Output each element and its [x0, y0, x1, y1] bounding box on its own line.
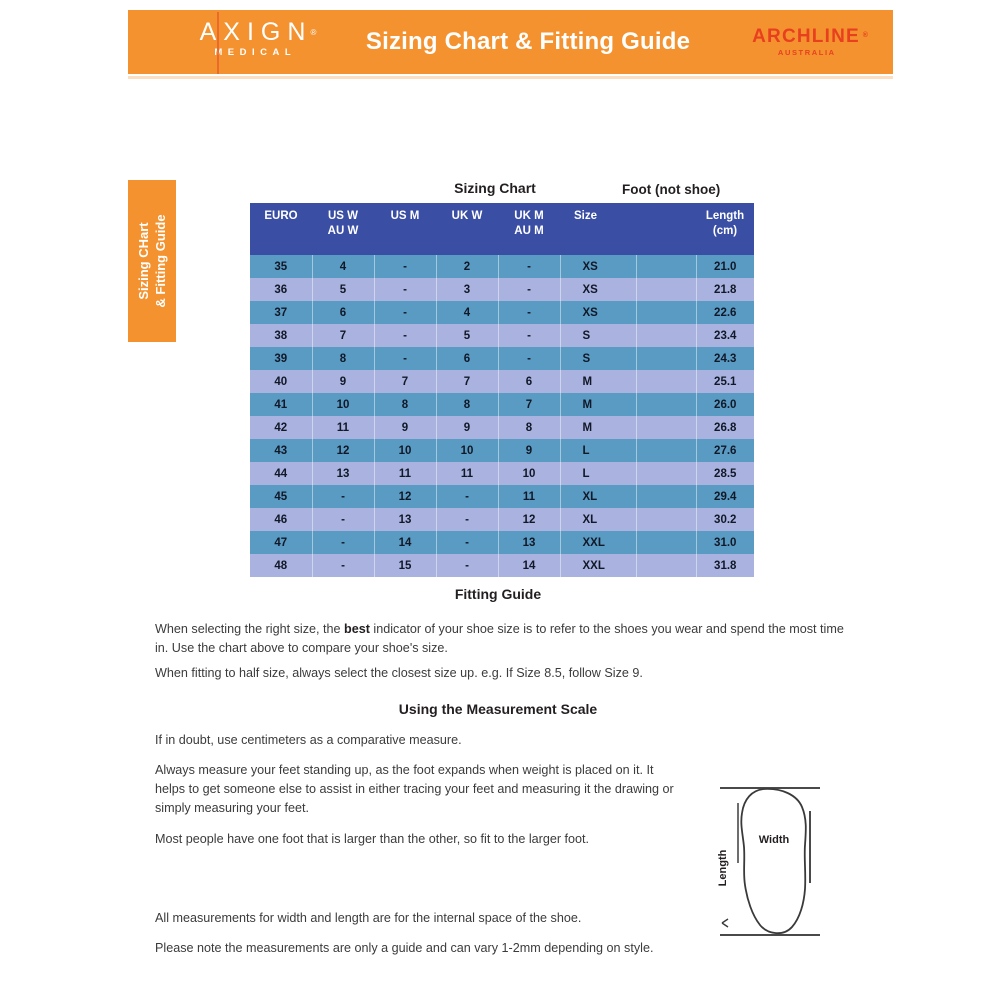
sizing-chart-title: Sizing Chart: [420, 180, 570, 196]
archline-wordmark-text: ARCHLINE: [752, 26, 860, 47]
table-cell-uk-w: 6: [436, 347, 498, 370]
column-header-us-w-line2: AU W: [312, 224, 374, 239]
sizing-chart-table: EURO US W AU W US M UK W UK M AU M Size …: [250, 203, 754, 577]
table-cell-length: 21.8: [696, 278, 754, 301]
table-cell-blank: [636, 370, 696, 393]
table-cell-euro: 44: [250, 462, 312, 485]
table-cell-us-w: 7: [312, 324, 374, 347]
table-cell-size: L: [560, 439, 636, 462]
side-tab-label: Sizing CHart & Fitting Guide: [135, 214, 169, 307]
table-cell-size: XS: [560, 278, 636, 301]
table-cell-size: XL: [560, 508, 636, 531]
column-header-us-w-line1: US W: [312, 209, 374, 224]
table-cell-uk-w: 4: [436, 301, 498, 324]
table-cell-size: XS: [560, 255, 636, 278]
table-cell-euro: 36: [250, 278, 312, 301]
table-cell-euro: 41: [250, 393, 312, 416]
table-cell-uk-w: 7: [436, 370, 498, 393]
foot-measurement-diagram: Width Length: [712, 773, 892, 948]
table-head: EURO US W AU W US M UK W UK M AU M Size …: [250, 203, 754, 255]
table-cell-length: 31.0: [696, 531, 754, 554]
axign-wordmark-text: AXIGN: [200, 18, 313, 46]
foot-diagram-svg: Width Length: [712, 773, 892, 948]
table-cell-uk-w: 2: [436, 255, 498, 278]
table-row: 365-3-XS21.8: [250, 278, 754, 301]
table-cell-blank: [636, 278, 696, 301]
table-cell-length: 26.8: [696, 416, 754, 439]
table-cell-uk-w: 9: [436, 416, 498, 439]
table-cell-blank: [636, 416, 696, 439]
table-cell-euro: 43: [250, 439, 312, 462]
table-cell-uk-m: -: [498, 324, 560, 347]
table-cell-length: 24.3: [696, 347, 754, 370]
table-cell-length: 23.4: [696, 324, 754, 347]
table-cell-us-m: 15: [374, 554, 436, 577]
table-cell-uk-m: -: [498, 301, 560, 324]
fitting-guide-p1-before: When selecting the right size, the: [155, 622, 344, 636]
fitting-guide-p1-bold: best: [344, 622, 370, 636]
table-cell-uk-m: -: [498, 255, 560, 278]
table-body: 354-2-XS21.0365-3-XS21.8376-4-XS22.6387-…: [250, 255, 754, 577]
table-cell-length: 31.8: [696, 554, 754, 577]
table-cell-us-w: 6: [312, 301, 374, 324]
column-header-euro: EURO: [250, 203, 312, 255]
table-cell-blank: [636, 554, 696, 577]
table-cell-us-w: 8: [312, 347, 374, 370]
table-cell-uk-w: -: [436, 531, 498, 554]
table-row: 398-6-S24.3: [250, 347, 754, 370]
table-row: 376-4-XS22.6: [250, 301, 754, 324]
table-cell-uk-m: 11: [498, 485, 560, 508]
foot-width-label: Width: [759, 834, 790, 846]
table-row: 4110887M26.0: [250, 393, 754, 416]
table-cell-us-m: 11: [374, 462, 436, 485]
table-row: 409776M25.1: [250, 370, 754, 393]
table-cell-size: M: [560, 416, 636, 439]
table-cell-uk-w: 11: [436, 462, 498, 485]
table-cell-us-m: 14: [374, 531, 436, 554]
table-cell-us-m: 9: [374, 416, 436, 439]
measurement-paragraph-5: Please note the measurements are only a …: [155, 939, 685, 958]
table-cell-euro: 40: [250, 370, 312, 393]
table-row: 354-2-XS21.0: [250, 255, 754, 278]
table-cell-size: XXL: [560, 554, 636, 577]
table-cell-size: M: [560, 370, 636, 393]
foot-not-shoe-note: Foot (not shoe): [622, 182, 720, 197]
table-header-row: EURO US W AU W US M UK W UK M AU M Size …: [250, 203, 754, 255]
table-row: 387-5-S23.4: [250, 324, 754, 347]
table-cell-blank: [636, 485, 696, 508]
table-cell-us-w: 13: [312, 462, 374, 485]
column-header-uk-m-line1: UK M: [498, 209, 560, 224]
table-cell-uk-w: 3: [436, 278, 498, 301]
column-header-size: Size: [560, 203, 636, 255]
table-cell-euro: 48: [250, 554, 312, 577]
table-cell-length: 28.5: [696, 462, 754, 485]
table-cell-blank: [636, 462, 696, 485]
table-cell-us-w: 12: [312, 439, 374, 462]
table-cell-euro: 38: [250, 324, 312, 347]
table-cell-us-w: 4: [312, 255, 374, 278]
fitting-guide-paragraph-1: When selecting the right size, the best …: [155, 620, 845, 658]
table-cell-uk-w: 10: [436, 439, 498, 462]
table-cell-euro: 37: [250, 301, 312, 324]
table-cell-uk-m: 14: [498, 554, 560, 577]
table-cell-euro: 42: [250, 416, 312, 439]
header-banner: AXIGN® MEDICAL Sizing Chart & Fitting Gu…: [128, 10, 893, 74]
side-tab-line-2: & Fitting Guide: [152, 214, 169, 307]
axign-trademark-icon: ®: [303, 19, 316, 47]
table-cell-uk-m: 13: [498, 531, 560, 554]
archline-subtitle: AUSTRALIA: [736, 47, 876, 58]
table-cell-us-m: 8: [374, 393, 436, 416]
measurement-paragraph-3: Most people have one foot that is larger…: [155, 830, 715, 849]
archline-wordmark: ARCHLINE®: [752, 27, 860, 47]
table-cell-us-w: -: [312, 531, 374, 554]
table-cell-size: XL: [560, 485, 636, 508]
table-row: 431210109L27.6: [250, 439, 754, 462]
banner-underline: [128, 76, 893, 79]
archline-logo: ARCHLINE® AUSTRALIA: [736, 27, 876, 58]
table-cell-us-m: -: [374, 324, 436, 347]
table-cell-us-m: -: [374, 255, 436, 278]
table-cell-us-m: 7: [374, 370, 436, 393]
table-cell-uk-m: -: [498, 278, 560, 301]
table-cell-us-w: 10: [312, 393, 374, 416]
table-cell-uk-w: 8: [436, 393, 498, 416]
table-cell-length: 30.2: [696, 508, 754, 531]
column-header-us-m: US M: [374, 203, 436, 255]
table-cell-uk-m: 12: [498, 508, 560, 531]
table-cell-blank: [636, 347, 696, 370]
table-cell-us-w: 9: [312, 370, 374, 393]
column-header-us-w: US W AU W: [312, 203, 374, 255]
table-cell-us-w: -: [312, 485, 374, 508]
table-cell-uk-m: 10: [498, 462, 560, 485]
foot-outline-path: [741, 789, 805, 933]
table-cell-us-m: -: [374, 347, 436, 370]
table-cell-us-w: -: [312, 554, 374, 577]
table-cell-us-m: 12: [374, 485, 436, 508]
table-cell-blank: [636, 324, 696, 347]
table-cell-uk-w: -: [436, 485, 498, 508]
foot-length-arrow-icon: [722, 919, 728, 927]
axign-subtitle: MEDICAL: [160, 46, 345, 60]
table-cell-length: 27.6: [696, 439, 754, 462]
table-cell-us-m: -: [374, 278, 436, 301]
table-cell-length: 26.0: [696, 393, 754, 416]
table-cell-uk-w: -: [436, 554, 498, 577]
table-cell-uk-m: 8: [498, 416, 560, 439]
fitting-guide-paragraph-2: When fitting to half size, always select…: [155, 664, 845, 683]
table-row: 47-14-13XXL31.0: [250, 531, 754, 554]
table-cell-size: XXL: [560, 531, 636, 554]
table-cell-uk-m: 6: [498, 370, 560, 393]
table-cell-uk-m: 7: [498, 393, 560, 416]
table-cell-blank: [636, 301, 696, 324]
table-cell-us-m: 13: [374, 508, 436, 531]
column-header-length: Length (cm): [696, 203, 754, 255]
table-cell-size: XS: [560, 301, 636, 324]
axign-wordmark: AXIGN®: [193, 18, 313, 46]
page-title: Sizing Chart & Fitting Guide: [328, 28, 728, 56]
table-cell-blank: [636, 508, 696, 531]
table-cell-us-m: -: [374, 301, 436, 324]
column-header-uk-w: UK W: [436, 203, 498, 255]
fitting-guide-heading: Fitting Guide: [258, 586, 738, 602]
table-row: 45-12-11XL29.4: [250, 485, 754, 508]
table-cell-length: 29.4: [696, 485, 754, 508]
table-cell-length: 22.6: [696, 301, 754, 324]
table-row: 48-15-14XXL31.8: [250, 554, 754, 577]
table-cell-uk-w: 5: [436, 324, 498, 347]
table-cell-euro: 45: [250, 485, 312, 508]
table-row: 46-13-12XL30.2: [250, 508, 754, 531]
measurement-paragraph-2: Always measure your feet standing up, as…: [155, 761, 687, 818]
table-cell-size: S: [560, 324, 636, 347]
table-cell-us-m: 10: [374, 439, 436, 462]
axign-logo: AXIGN® MEDICAL: [160, 18, 345, 68]
table-cell-euro: 35: [250, 255, 312, 278]
table-cell-blank: [636, 439, 696, 462]
column-header-length-line2: (cm): [696, 224, 754, 239]
column-header-uk-m-line2: AU M: [498, 224, 560, 239]
table-cell-blank: [636, 393, 696, 416]
table-cell-us-w: 5: [312, 278, 374, 301]
table-cell-us-w: 11: [312, 416, 374, 439]
measurement-paragraph-1: If in doubt, use centimeters as a compar…: [155, 731, 845, 750]
column-header-blank: [636, 203, 696, 255]
measurement-scale-heading: Using the Measurement Scale: [258, 701, 738, 717]
table-cell-blank: [636, 255, 696, 278]
measurement-paragraph-4: All measurements for width and length ar…: [155, 909, 715, 928]
table-cell-size: M: [560, 393, 636, 416]
table-cell-length: 21.0: [696, 255, 754, 278]
table-cell-euro: 46: [250, 508, 312, 531]
table-cell-size: L: [560, 462, 636, 485]
archline-trademark-icon: ®: [863, 26, 868, 46]
table-cell-size: S: [560, 347, 636, 370]
table-cell-euro: 47: [250, 531, 312, 554]
table-cell-length: 25.1: [696, 370, 754, 393]
side-tab: Sizing CHart & Fitting Guide: [128, 180, 176, 342]
table-cell-uk-m: -: [498, 347, 560, 370]
table-cell-us-w: -: [312, 508, 374, 531]
table-row: 4211998M26.8: [250, 416, 754, 439]
table-cell-uk-m: 9: [498, 439, 560, 462]
side-tab-line-1: Sizing CHart: [135, 214, 152, 307]
column-header-length-line1: Length: [696, 209, 754, 224]
table-cell-uk-w: -: [436, 508, 498, 531]
foot-length-label: Length: [717, 849, 729, 886]
column-header-uk-m: UK M AU M: [498, 203, 560, 255]
table-cell-blank: [636, 531, 696, 554]
table-row: 4413111110L28.5: [250, 462, 754, 485]
table-cell-euro: 39: [250, 347, 312, 370]
